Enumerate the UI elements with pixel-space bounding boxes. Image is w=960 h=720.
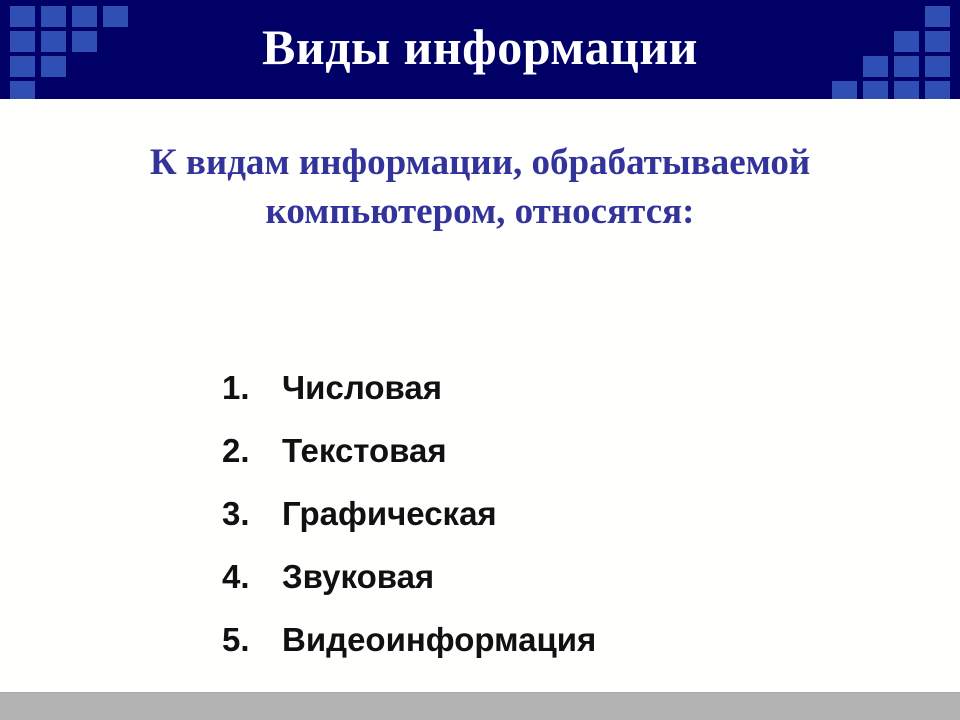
- list-item-label: Видеоинформация: [282, 608, 596, 671]
- slide-header: Виды информации: [0, 0, 960, 99]
- list-item-number: 5.: [222, 608, 282, 671]
- list-item-label: Текстовая: [282, 419, 447, 482]
- list-item: 2. Текстовая: [222, 419, 922, 482]
- slide: Виды информации К видам информации, обра…: [0, 0, 960, 720]
- list-item-number: 3.: [222, 482, 282, 545]
- list-item-label: Звуковая: [282, 545, 434, 608]
- list-item-label: Числовая: [282, 356, 442, 419]
- list-item-label: Графическая: [282, 482, 497, 545]
- information-types-list: 1. Числовая 2. Текстовая 3. Графическая …: [222, 356, 922, 671]
- list-item: 5. Видеоинформация: [222, 608, 922, 671]
- list-item-number: 2.: [222, 419, 282, 482]
- slide-subtitle: К видам информации, обрабатываемой компь…: [80, 138, 880, 236]
- list-item: 3. Графическая: [222, 482, 922, 545]
- list-item: 4. Звуковая: [222, 545, 922, 608]
- page-title: Виды информации: [0, 0, 960, 99]
- list-item: 1. Числовая: [222, 356, 922, 419]
- footer-bar: [0, 692, 960, 720]
- list-item-number: 4.: [222, 545, 282, 608]
- list-item-number: 1.: [222, 356, 282, 419]
